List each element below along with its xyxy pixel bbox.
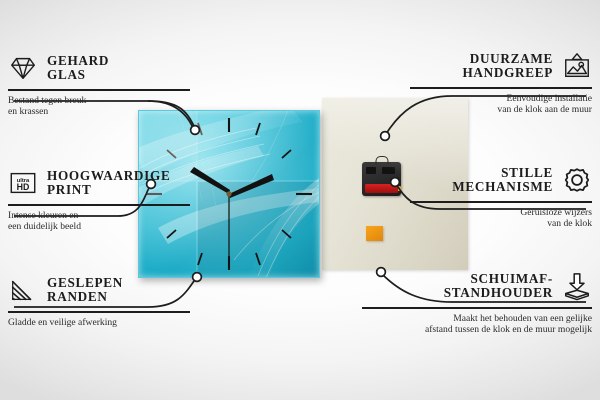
feature-gehard-glas: GEHARD GLAS Bestand tegen breuk en krass… <box>8 50 190 117</box>
press-down-pad-icon <box>562 271 592 301</box>
clock-mechanism <box>362 162 401 196</box>
divider <box>410 87 592 89</box>
feature-title: GEHARD GLAS <box>47 54 109 82</box>
picture-frame-icon <box>562 51 592 81</box>
divider <box>8 311 190 313</box>
gear-icon <box>562 165 592 195</box>
feature-duurzame-handgreep: DUURZAME HANDGREEP Eenvoudige installati… <box>410 48 592 115</box>
feature-title: DUURZAME HANDGREEP <box>462 52 553 80</box>
divider <box>362 307 592 309</box>
ultra-hd-icon: ultra HD <box>8 168 38 198</box>
diamond-icon <box>8 53 38 83</box>
hd-label: HD <box>17 182 30 192</box>
feature-hoogwaardige-print: ultra HD HOOGWAARDIGE PRINT Intense kleu… <box>8 165 190 232</box>
feature-header: SCHUIMAF- STANDHOUDER <box>362 268 592 304</box>
feature-title: STILLE MECHANISME <box>452 166 553 194</box>
feature-schuimaf-standhouder: SCHUIMAF- STANDHOUDER Maakt het behouden… <box>362 268 592 335</box>
mechanism-slot-right <box>382 167 395 174</box>
battery <box>365 184 398 193</box>
hanging-hook-icon <box>375 156 388 164</box>
mechanism-slot-left <box>366 167 376 174</box>
divider <box>8 89 190 91</box>
feature-header: STILLE MECHANISME <box>410 162 592 198</box>
infographic-canvas: GEHARD GLAS Bestand tegen breuk en krass… <box>0 0 600 400</box>
feature-description: Gladde en veilige afwerking <box>8 317 190 328</box>
beveled-edges-icon <box>8 275 38 305</box>
feature-geslepen-randen: GESLEPEN RANDEN Gladde en veilige afwerk… <box>8 272 190 328</box>
divider <box>410 201 592 203</box>
feature-header: GESLEPEN RANDEN <box>8 272 190 308</box>
feature-description: Geruisloze wijzers van de klok <box>410 207 592 230</box>
feature-title: SCHUIMAF- STANDHOUDER <box>444 272 553 300</box>
feature-description: Bestand tegen breuk en krassen <box>8 95 190 118</box>
foam-standoff-pad <box>366 226 383 241</box>
feature-stille-mechanisme: STILLE MECHANISME Geruisloze wijzers van… <box>410 162 592 229</box>
feature-header: GEHARD GLAS <box>8 50 190 86</box>
feature-header: DUURZAME HANDGREEP <box>410 48 592 84</box>
feature-title: HOOGWAARDIGE PRINT <box>47 169 170 197</box>
feature-description: Maakt het behouden van een gelijke afsta… <box>362 313 592 336</box>
feature-title: GESLEPEN RANDEN <box>47 276 123 304</box>
divider <box>8 204 190 206</box>
feature-header: ultra HD HOOGWAARDIGE PRINT <box>8 165 190 201</box>
feature-description: Eenvoudige installatie van de klok aan d… <box>410 93 592 116</box>
feature-description: Intense kleuren en een duidelijk beeld <box>8 210 190 233</box>
